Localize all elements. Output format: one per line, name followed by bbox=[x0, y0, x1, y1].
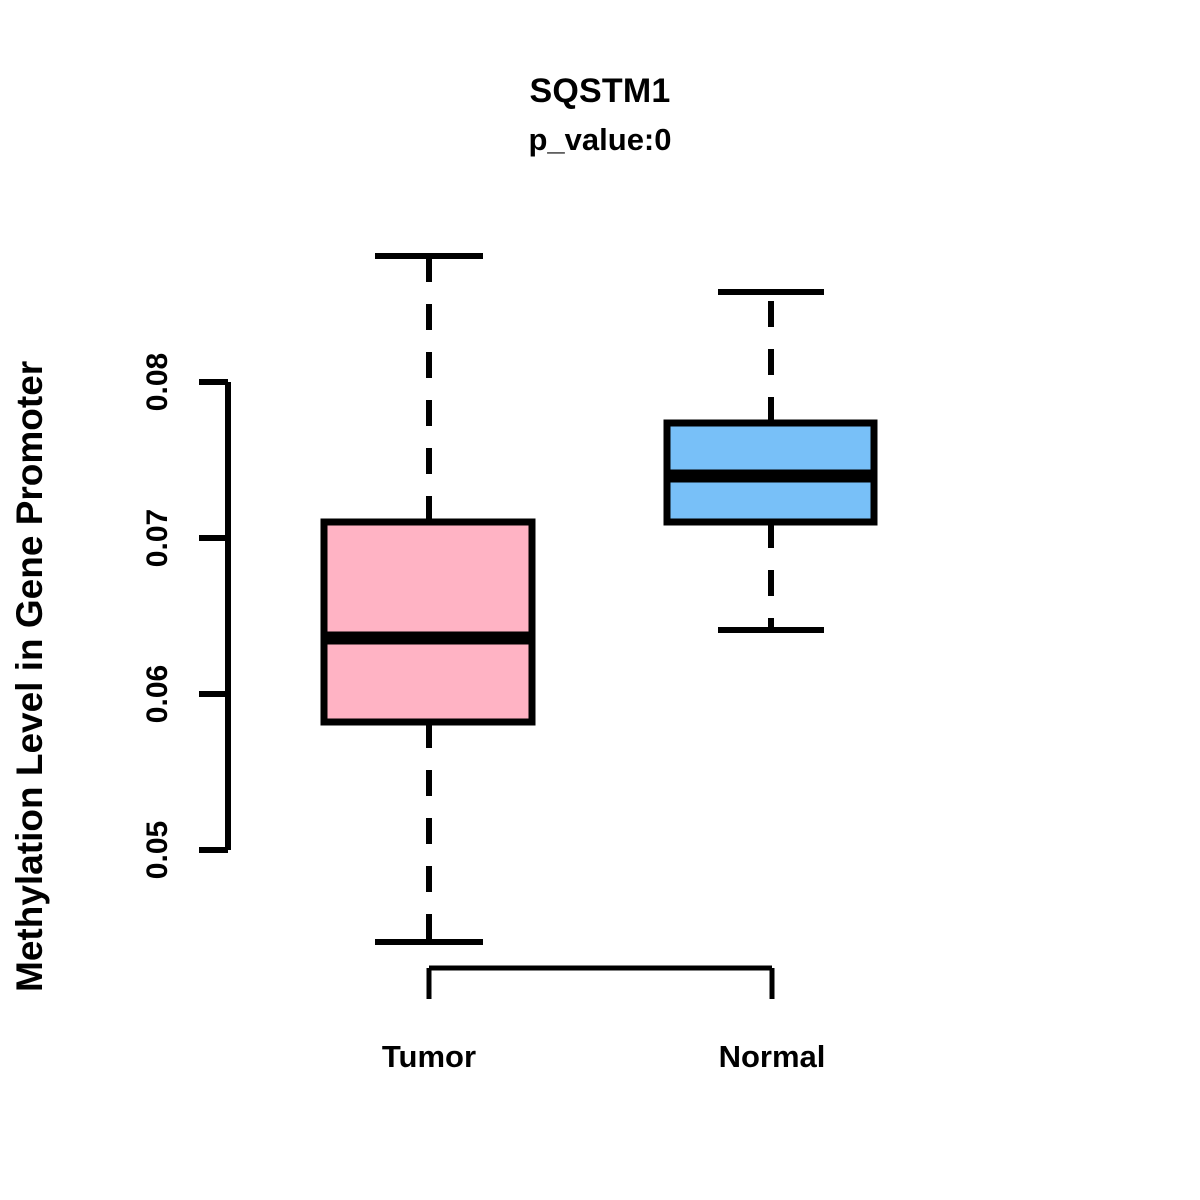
x-axis bbox=[429, 968, 772, 999]
box-rect-tumor bbox=[324, 522, 532, 722]
y-axis bbox=[199, 382, 228, 850]
boxplot-figure: SQSTM1 p_value:0 Methylation Level in Ge… bbox=[0, 0, 1200, 1200]
box-normal bbox=[667, 292, 874, 630]
plot-canvas bbox=[0, 0, 1200, 1200]
box-tumor bbox=[324, 256, 532, 942]
